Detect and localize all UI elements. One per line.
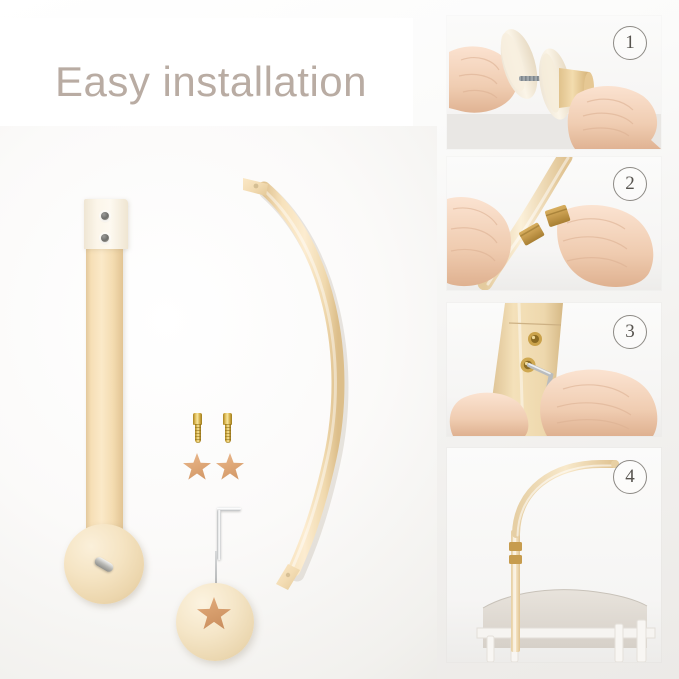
vertical-mount-arm	[86, 201, 123, 531]
mounting-screw-hole-bottom	[101, 234, 109, 242]
brass-screw-right	[222, 413, 233, 443]
page-title: Easy installation	[55, 58, 367, 106]
step-panel-2: 2	[447, 157, 661, 290]
headline-banner: Easy installation	[0, 18, 413, 126]
step-number-2: 2	[613, 167, 647, 201]
product-instruction-graphic: Easy installation	[0, 0, 679, 679]
step-number-3: 3	[613, 315, 647, 349]
step-panel-1: 1	[447, 16, 661, 149]
screw-shaft	[225, 424, 231, 443]
brass-screw-left	[192, 413, 203, 443]
step-panel-4: 4	[447, 448, 661, 662]
mounting-screw-hole-top	[101, 212, 109, 220]
step-number-1: 1	[613, 26, 647, 60]
mobile-base-rod	[215, 551, 217, 585]
step-number-4: 4	[613, 460, 647, 494]
allen-key-long-arm	[217, 510, 221, 560]
allen-key	[205, 504, 245, 560]
screw-shaft	[195, 424, 201, 443]
step-panel-3: 3	[447, 303, 661, 436]
parts-layout-scene	[0, 126, 437, 679]
